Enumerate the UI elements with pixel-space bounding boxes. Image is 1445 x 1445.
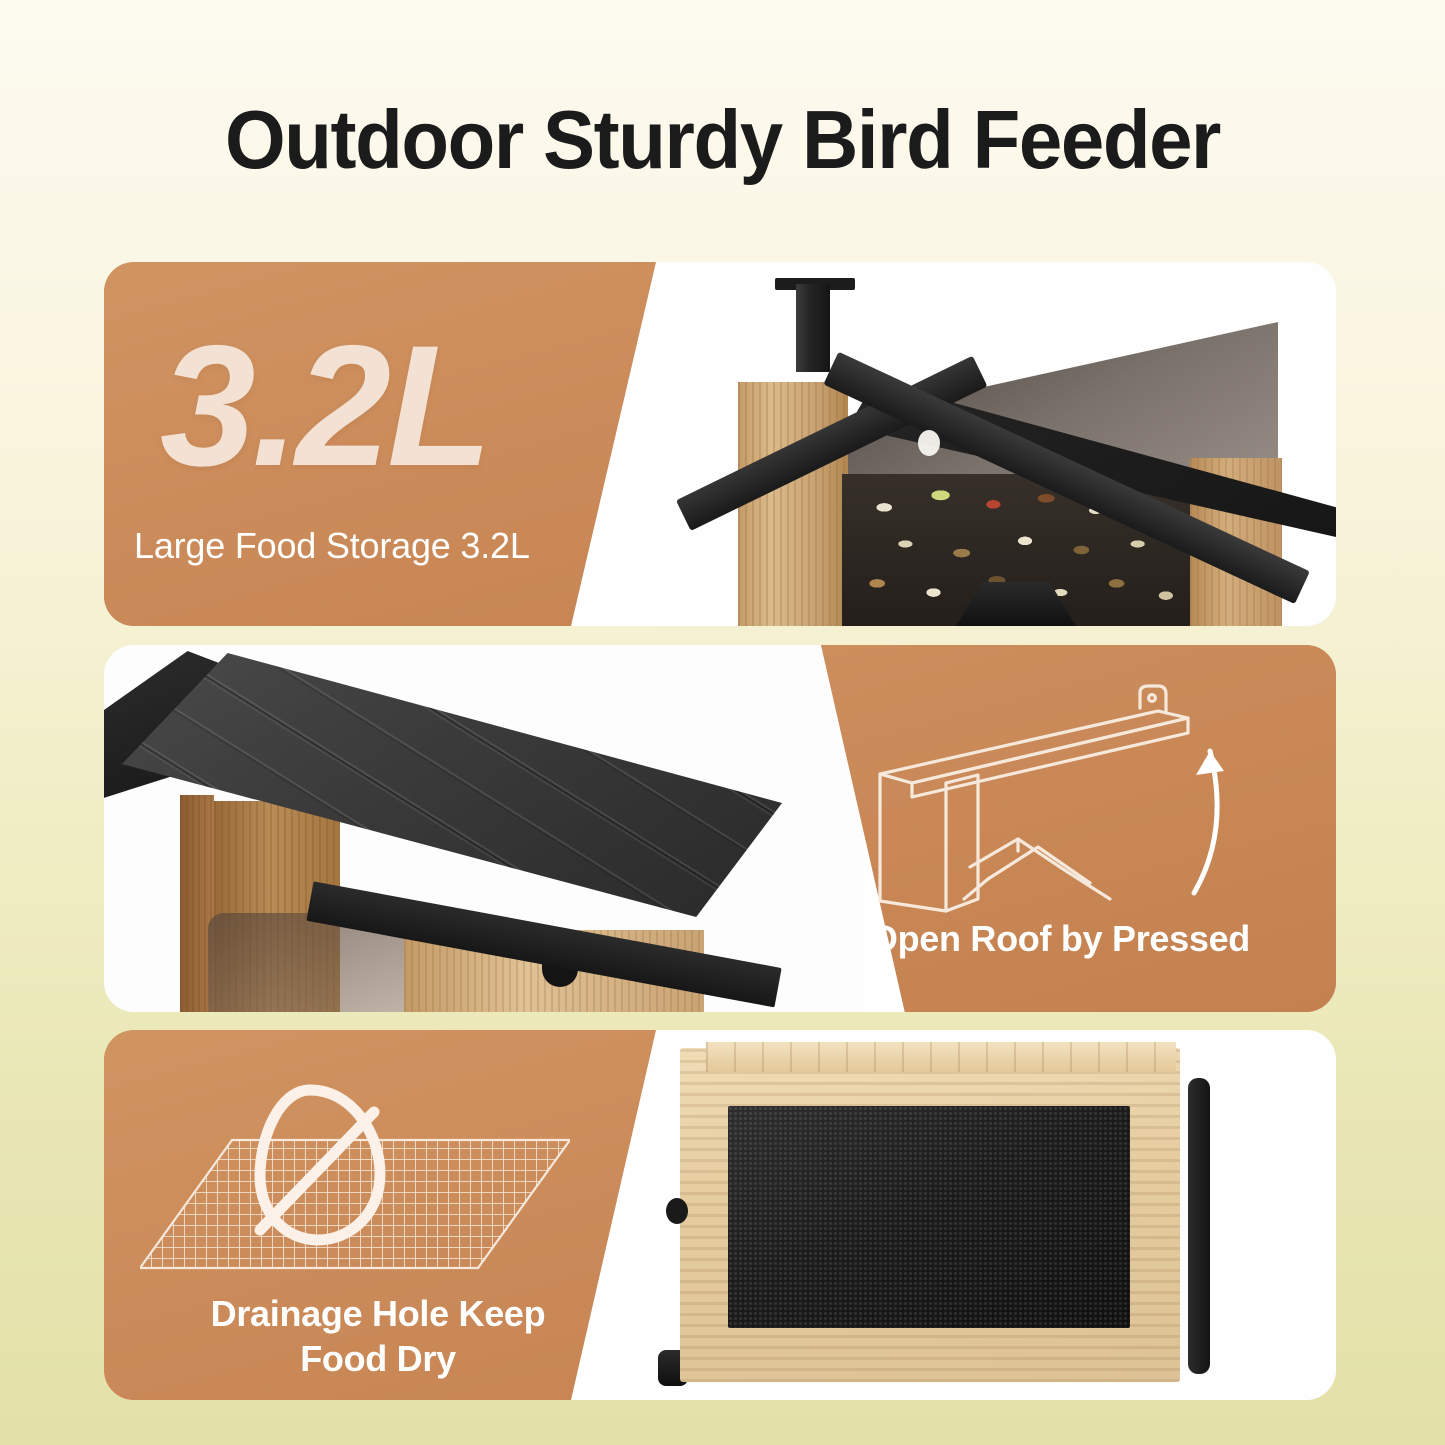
panel-1-caption: Large Food Storage 3.2L	[134, 524, 530, 568]
feeder-wood-panel-left	[738, 382, 848, 626]
page-title: Outdoor Sturdy Bird Feeder	[43, 92, 1401, 188]
arrow-head-icon	[1196, 751, 1224, 775]
feature-panel-open-roof: Open Roof by Pressed	[104, 645, 1336, 1012]
panel-3-caption-line-1: Drainage Hole Keep	[211, 1293, 546, 1334]
panel-3-caption: Drainage Hole KeepFood Dry	[168, 1292, 588, 1381]
bird-feeder-with-seed-photo	[656, 262, 1336, 626]
side-hinge-rod	[1188, 1078, 1210, 1374]
feature-panel-large-food-storage: 3.2L Large Food Storage 3.2L	[104, 262, 1336, 626]
perforated-mesh-tray	[728, 1106, 1130, 1328]
highlight-spot	[918, 430, 940, 456]
open-roof-diagram-icon	[858, 671, 1288, 921]
chimney	[796, 284, 830, 372]
mesh-bottom-tray-photo	[636, 1030, 1336, 1400]
side-knob	[666, 1198, 688, 1224]
panel-2-caption: Open Roof by Pressed	[870, 917, 1250, 962]
panel-3-caption-line-2: Food Dry	[300, 1338, 456, 1379]
bamboo-top-edge	[706, 1042, 1176, 1072]
feature-panel-drainage-hole: Drainage Hole KeepFood Dry	[104, 1030, 1336, 1400]
drainage-mesh-droplet-icon	[140, 1082, 570, 1304]
shingle-roof-closeup-photo	[104, 645, 864, 1012]
volume-headline: 3.2L	[160, 320, 488, 492]
